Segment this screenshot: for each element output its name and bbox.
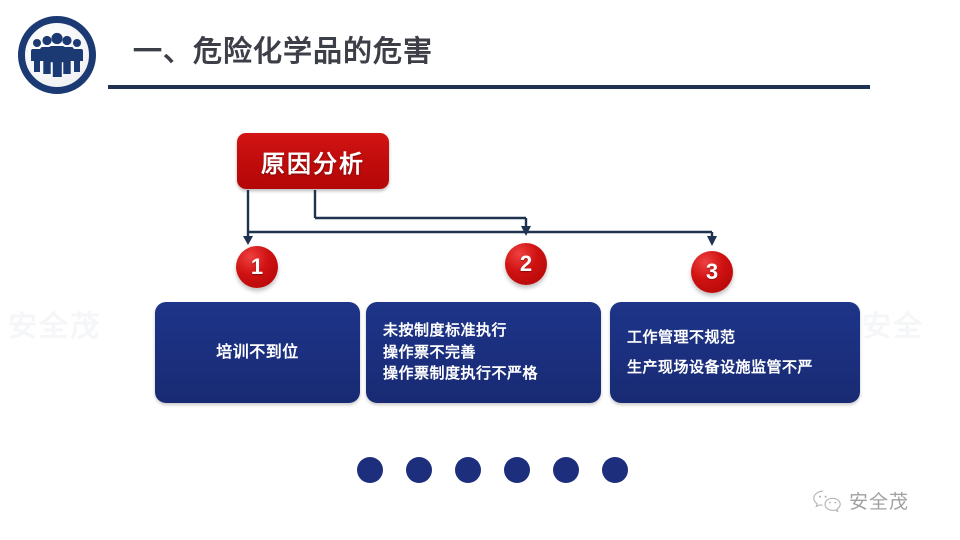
decorative-dot bbox=[602, 457, 628, 483]
branch-badge-1[interactable]: 1 bbox=[236, 246, 278, 288]
root-node-label: 原因分析 bbox=[261, 144, 365, 179]
branch-badge-1-label: 1 bbox=[251, 256, 263, 278]
decorative-dot-row bbox=[357, 457, 628, 483]
decorative-dot bbox=[406, 457, 432, 483]
cause-card-2-line-2: 操作票不完善 bbox=[383, 342, 476, 364]
branch-badge-2-label: 2 bbox=[520, 253, 532, 275]
cause-card-2[interactable]: 未按制度标准执行 操作票不完善 操作票制度执行不严格 bbox=[366, 302, 601, 403]
decorative-dot bbox=[455, 457, 481, 483]
cause-card-3[interactable]: 工作管理不规范 生产现场设备设施监管不严 bbox=[610, 302, 860, 403]
corner-watermark: 安全茂 bbox=[812, 487, 909, 514]
branch-badge-2[interactable]: 2 bbox=[505, 243, 547, 285]
branch-badge-3-label: 3 bbox=[706, 261, 718, 283]
cause-card-3-line-1: 工作管理不规范 bbox=[627, 323, 736, 352]
people-silhouettes bbox=[31, 32, 83, 78]
background-watermark-right: 安全 bbox=[862, 303, 924, 345]
cause-card-2-line-3: 操作票制度执行不严格 bbox=[383, 363, 538, 385]
branch-badge-3[interactable]: 3 bbox=[691, 251, 733, 293]
decorative-dot bbox=[357, 457, 383, 483]
cause-card-2-line-1: 未按制度标准执行 bbox=[383, 320, 507, 342]
wechat-icon bbox=[812, 489, 842, 513]
decorative-dot bbox=[504, 457, 530, 483]
slide-canvas: 安全茂 安全 一、危险化学品的危害 bbox=[0, 0, 960, 540]
page-title: 一、危险化学品的危害 bbox=[133, 28, 433, 70]
decorative-dot bbox=[553, 457, 579, 483]
background-watermark-left: 安全茂 bbox=[8, 303, 101, 345]
title-underline bbox=[108, 85, 870, 89]
corner-watermark-text: 安全茂 bbox=[849, 487, 909, 514]
people-group-icon bbox=[18, 16, 96, 94]
cause-card-3-line-2: 生产现场设备设施监管不严 bbox=[627, 353, 813, 382]
cause-card-1-line-1: 培训不到位 bbox=[216, 341, 299, 364]
root-node-cause-analysis[interactable]: 原因分析 bbox=[237, 133, 389, 189]
cause-card-1[interactable]: 培训不到位 bbox=[155, 302, 360, 403]
